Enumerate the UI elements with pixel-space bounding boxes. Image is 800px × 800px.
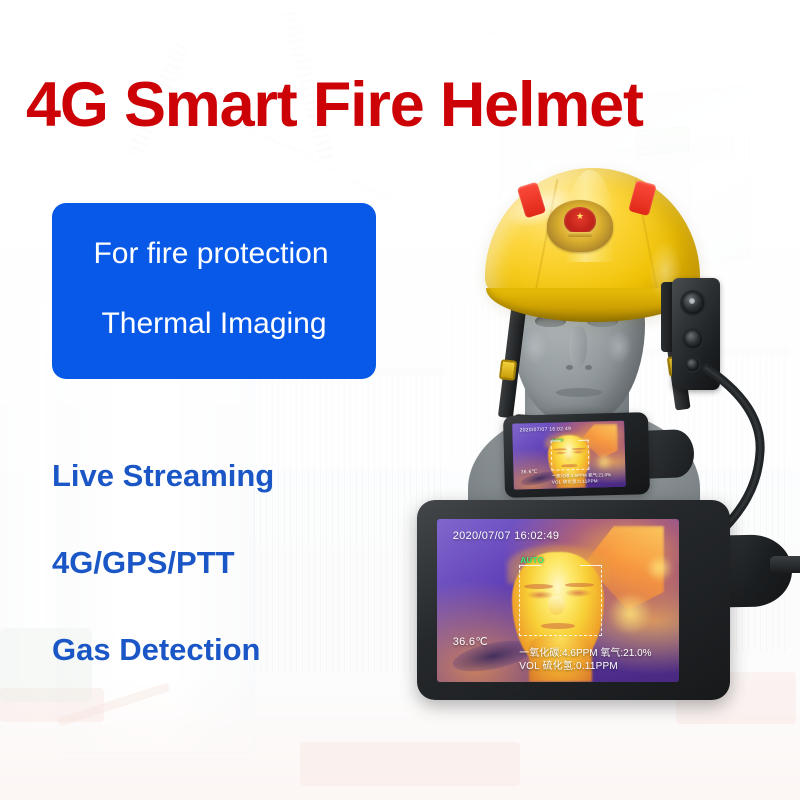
large-display-gas-line-2: VOL 硫化氢:0.11PPM [519, 660, 674, 674]
mannequin-nostril-left [566, 365, 573, 370]
camera-sensor-port [686, 358, 699, 371]
small-thermal-image: 2020/07/07 16:02:49 AUTO 36.6℃ 一氧化碳:4.6P… [512, 421, 626, 490]
mannequin-nostril-right [585, 365, 592, 370]
small-thermal-display[interactable]: 2020/07/07 16:02:49 AUTO 36.6℃ 一氧化碳:4.6P… [503, 412, 650, 498]
small-display-tracking-box [551, 440, 590, 470]
fire-service-emblem: ★ [547, 200, 613, 252]
product-photo: ★ [0, 0, 800, 800]
large-screen-cable-stub [770, 556, 800, 573]
small-display-gas-readings: 一氧化碳:4.6PPM 氧气:21.0% VOL 硫化氢:0.11PPM [552, 472, 624, 486]
emblem-base-bar [568, 232, 592, 237]
large-display-timestamp: 2020/07/07 16:02:49 [453, 530, 560, 542]
mannequin-lips [556, 388, 602, 397]
camera-lens-secondary [684, 330, 702, 348]
large-display-tracking-box [519, 565, 601, 637]
large-display-gas-line-1: 一氧化碳:4.6PPM 氧气:21.0% [519, 647, 674, 661]
product-banner: 4G Smart Fire Helmet For fire protection… [0, 0, 800, 800]
large-thermal-display[interactable]: 2020/07/07 16:02:49 AUTO 36.6℃ 一氧化碳:4.6P… [417, 500, 730, 700]
helmet-buckle-left [499, 359, 517, 381]
large-thermal-hotspot-a [606, 594, 654, 633]
large-display-glass: 2020/07/07 16:02:49 AUTO 36.6℃ 一氧化碳:4.6P… [437, 519, 679, 682]
large-display-gas-readings: 一氧化碳:4.6PPM 氧气:21.0% VOL 硫化氢:0.11PPM [519, 647, 674, 674]
large-thermal-hotspot-b [645, 555, 674, 581]
large-thermal-image: 2020/07/07 16:02:49 AUTO 36.6℃ 一氧化碳:4.6P… [437, 519, 679, 682]
small-thermal-hotspot [594, 454, 615, 469]
mannequin-cheek-right [606, 330, 632, 364]
small-display-timestamp: 2020/07/07 16:02:49 [520, 426, 572, 433]
mannequin-nose [569, 326, 587, 368]
camera-lens-glint [689, 298, 695, 304]
mannequin-cheek-left [522, 330, 548, 364]
large-display-temperature: 36.6℃ [453, 635, 488, 648]
small-display-glass: 2020/07/07 16:02:49 AUTO 36.6℃ 一氧化碳:4.6P… [512, 421, 626, 490]
emblem-star-icon: ★ [576, 212, 584, 221]
small-display-temperature: 36.6℃ [521, 469, 538, 475]
